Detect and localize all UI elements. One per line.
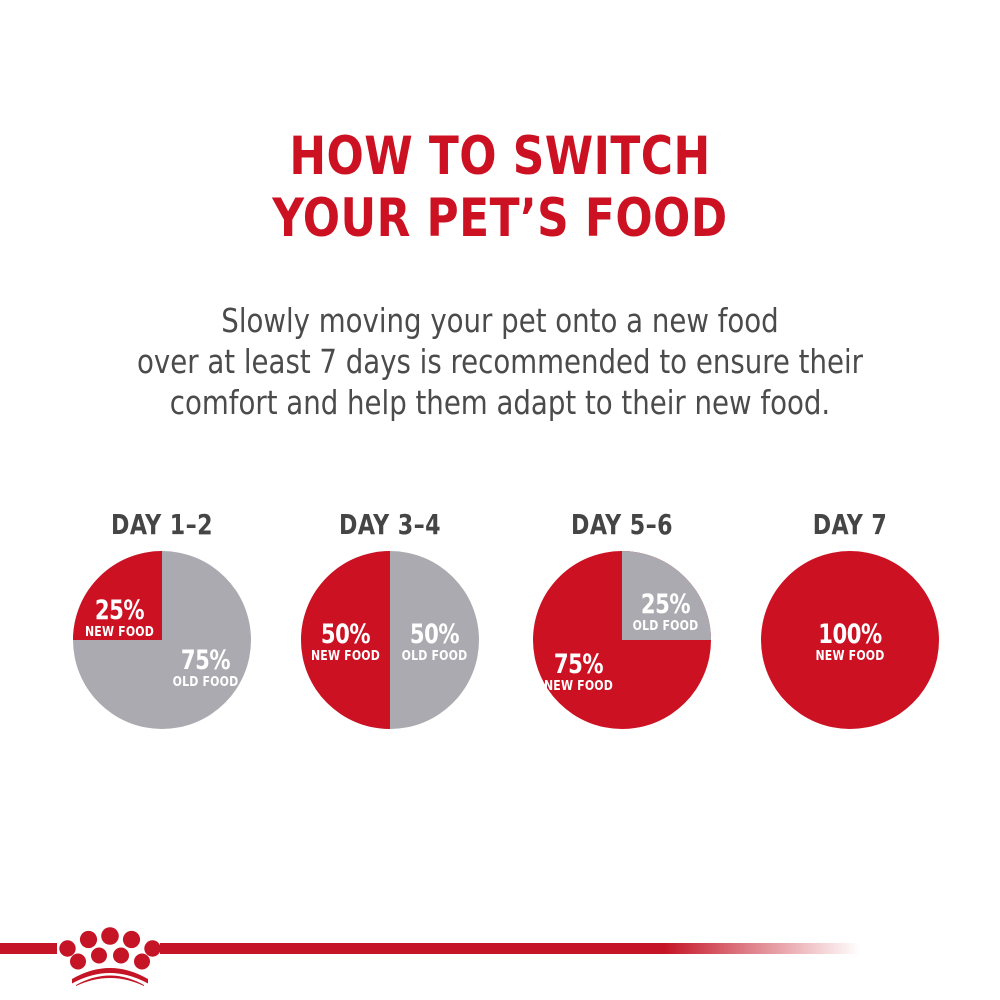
pie-svg-day-1-2	[73, 551, 251, 729]
title-line-1: HOW TO SWITCH	[40, 126, 960, 188]
page-title: HOW TO SWITCH YOUR PET’S FOOD	[0, 126, 1000, 250]
pie-svg-day-5-6	[533, 551, 711, 729]
pie-slice-old-food	[622, 551, 711, 640]
chart-label-day-7: DAY 7	[749, 508, 951, 542]
chart-day-1-2: DAY 1–2 25% NEW FOOD 75% OLD FOOD	[47, 508, 277, 758]
title-line-2: YOUR PET’S FOOD	[40, 188, 960, 250]
pie-slice-new-food	[73, 551, 162, 640]
chart-day-3-4: DAY 3–4 50% NEW FOOD 50% OLD FOOD	[275, 508, 505, 758]
footer	[0, 938, 1000, 1000]
paragraph-line-1: Slowly moving your pet onto a new food	[35, 300, 965, 341]
transition-schedule-charts: DAY 1–2 25% NEW FOOD 75% OLD FOOD DAY 3–…	[0, 508, 1000, 758]
infographic-page: HOW TO SWITCH YOUR PET’S FOOD Slowly mov…	[0, 0, 1000, 1000]
paragraph-line-3: comfort and help them adapt to their new…	[35, 382, 965, 423]
chart-label-day-5-6: DAY 5–6	[521, 508, 723, 542]
pie-chart-day-1-2: 25% NEW FOOD 75% OLD FOOD	[73, 551, 251, 729]
pie-slice-new-food	[301, 551, 390, 729]
pie-chart-day-7: 100% NEW FOOD	[761, 551, 939, 729]
pie-slice-new-food	[761, 551, 939, 729]
pie-svg-day-3-4	[301, 551, 479, 729]
intro-paragraph: Slowly moving your pet onto a new food o…	[0, 300, 1000, 423]
pie-chart-day-5-6: 25% OLD FOOD 75% NEW FOOD	[533, 551, 711, 729]
chart-day-7: DAY 7 100% NEW FOOD	[735, 508, 965, 758]
footer-bar-left	[0, 943, 57, 954]
chart-label-day-1-2: DAY 1–2	[61, 508, 263, 542]
pie-svg-day-7	[761, 551, 939, 729]
footer-bar-right	[160, 943, 860, 954]
pie-chart-day-3-4: 50% NEW FOOD 50% OLD FOOD	[301, 551, 479, 729]
chart-day-5-6: DAY 5–6 25% OLD FOOD 75% NEW FOOD	[507, 508, 737, 758]
crown-svg	[52, 924, 168, 986]
chart-label-day-3-4: DAY 3–4	[289, 508, 491, 542]
paragraph-line-2: over at least 7 days is recommended to e…	[35, 341, 965, 382]
royal-canin-crown-icon	[52, 924, 168, 986]
